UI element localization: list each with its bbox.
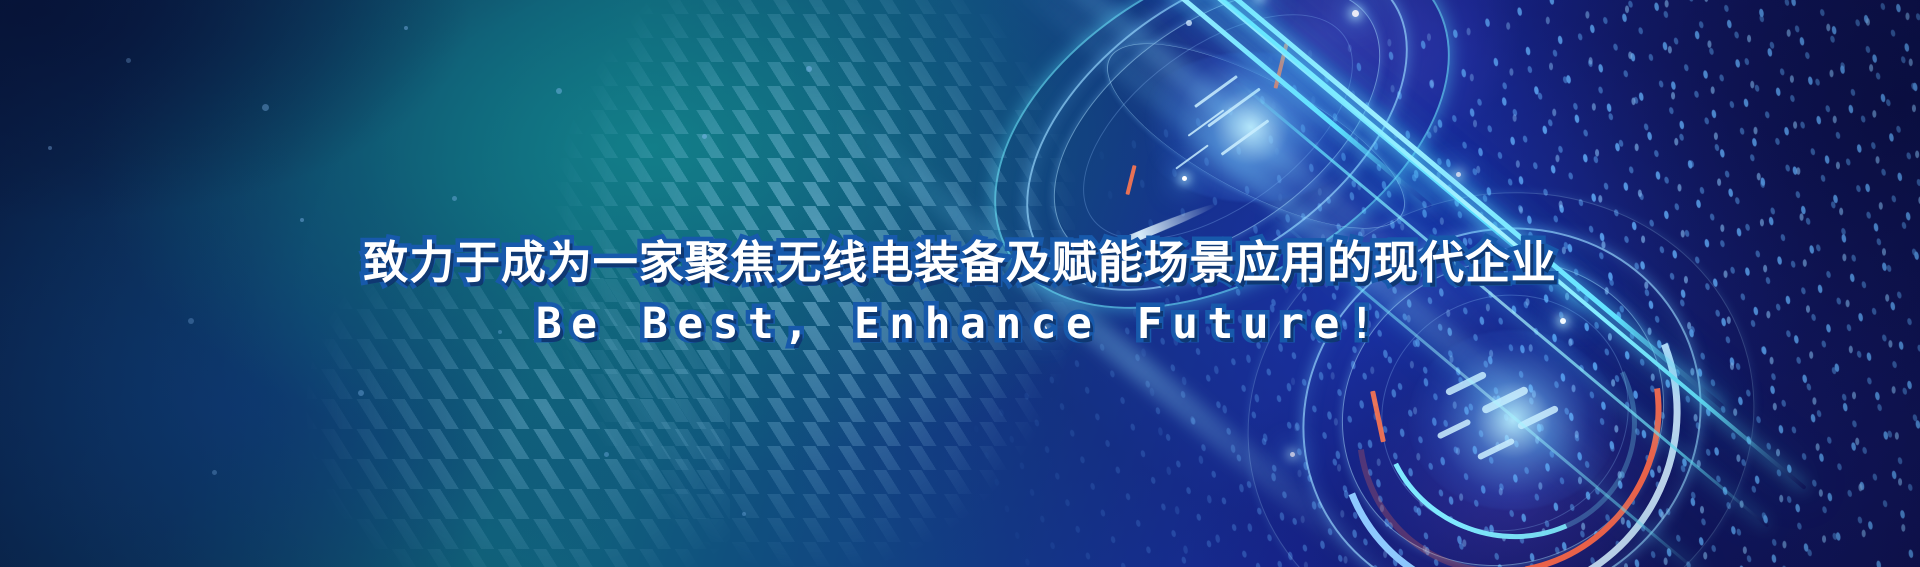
orbit-spark (1182, 176, 1187, 181)
headline-english: Be Best, Enhance Future! (0, 301, 1920, 348)
hero-banner: 致力于成为一家聚焦无线电装备及赋能场景应用的现代企业 Be Best, Enha… (0, 0, 1920, 567)
headline-block: 致力于成为一家聚焦无线电装备及赋能场景应用的现代企业 Be Best, Enha… (0, 236, 1920, 348)
headline-chinese: 致力于成为一家聚焦无线电装备及赋能场景应用的现代企业 (0, 236, 1920, 289)
